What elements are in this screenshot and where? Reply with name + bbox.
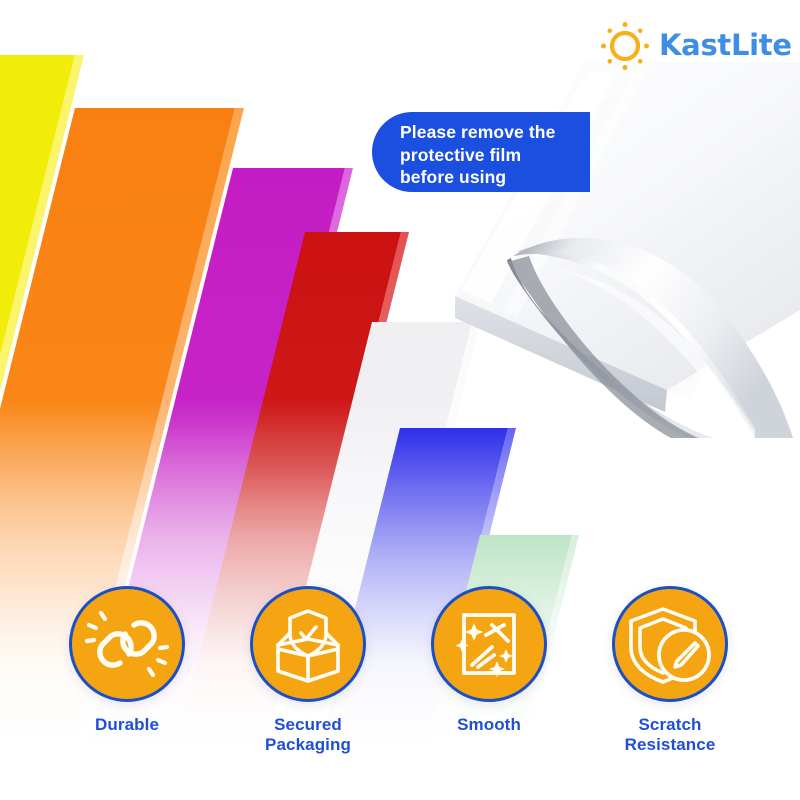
feature-smooth[interactable]: Smooth	[394, 586, 584, 735]
feature-durable-label: Durable	[32, 715, 222, 735]
feature-smooth-circle	[431, 586, 547, 702]
feature-scratch-resistance-circle	[612, 586, 728, 702]
shield-blade-icon	[615, 589, 725, 699]
brand-name: KastLite	[659, 28, 792, 62]
feature-durable-circle	[69, 586, 185, 702]
callout-line-2: protective film	[400, 144, 590, 167]
feature-scratch-resistance[interactable]: Scratch Resistance	[575, 586, 765, 755]
sparkle-pane-icon	[434, 589, 544, 699]
feature-scratch-resistance-label: Scratch Resistance	[575, 715, 765, 755]
chain-link-icon	[72, 589, 182, 699]
feature-badges: Durable Secured Packaging	[0, 586, 800, 776]
feature-smooth-label: Smooth	[394, 715, 584, 735]
feature-secured-packaging-label: Secured Packaging	[213, 715, 403, 755]
callout-line-3: before using	[400, 166, 590, 189]
feature-secured-packaging-circle	[250, 586, 366, 702]
instruction-callout: Please remove the protective film before…	[372, 112, 590, 192]
sun-icon	[597, 18, 653, 74]
brand-logo: KastLite	[597, 18, 782, 70]
feature-secured-packaging[interactable]: Secured Packaging	[213, 586, 403, 755]
callout-line-1: Please remove the	[400, 121, 590, 144]
shield-box-icon	[253, 589, 363, 699]
feature-durable[interactable]: Durable	[32, 586, 222, 735]
product-marketing-image: Please remove the protective film before…	[0, 0, 800, 800]
